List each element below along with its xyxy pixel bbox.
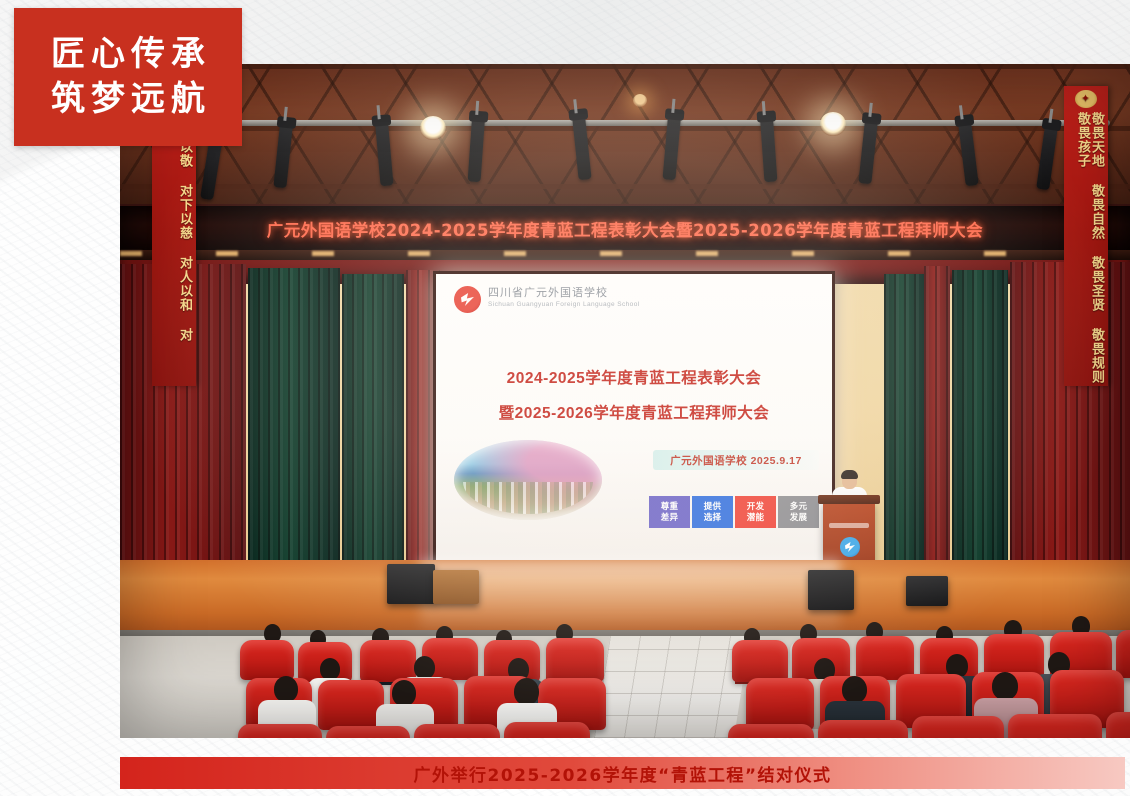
auditorium-seat xyxy=(746,678,814,730)
slide-chip-bottom: 潜能 xyxy=(747,512,765,523)
slide-date-label: 广元外国语学校 2025.9.17 xyxy=(670,453,802,468)
slide-date-box: 广元外国语学校 2025.9.17 xyxy=(653,450,819,470)
school-name-en: Sichuan Guangyuan Foreign Language Schoo… xyxy=(488,300,640,310)
pa-speaker xyxy=(387,564,435,604)
caption-bar: 广外举行2025-2026学年度“青蓝工程”结对仪式 xyxy=(120,757,1125,789)
column-banner-right-text: 敬畏天地 敬畏自然 敬畏圣贤 敬畏规则 敬畏孩子 xyxy=(1076,112,1105,384)
caption-text: 广外举行2025-2026学年度“青蓝工程”结对仪式 xyxy=(413,761,831,786)
pa-speaker xyxy=(808,570,854,610)
auditorium-seat xyxy=(414,724,500,738)
auditorium-seat xyxy=(240,640,294,680)
ceiling-lamp xyxy=(633,94,647,107)
slide-chip: 开发 潜能 xyxy=(735,496,776,528)
auditorium-seat xyxy=(318,680,384,730)
page-background: 广元外国语学校2024-2025学年度青蓝工程表彰大会暨2025-2026学年度… xyxy=(0,0,1130,796)
auditorium-seat xyxy=(546,638,604,682)
stage-curtain-green-right xyxy=(952,270,1008,592)
podium-logo-icon xyxy=(840,537,860,557)
slide-chip-bottom: 选择 xyxy=(704,512,722,523)
slide-chip-row: 尊重 差异 提供 选择 开发 潜能 多元 发展 xyxy=(649,496,819,528)
slide-chip-bottom: 发展 xyxy=(790,512,808,523)
auditorium-seat xyxy=(1008,714,1102,738)
led-banner-text: 广元外国语学校2024-2025学年度青蓝工程表彰大会暨2025-2026学年度… xyxy=(267,217,983,241)
slide-chip-bottom: 差异 xyxy=(661,512,679,523)
auditorium-seat xyxy=(360,640,416,682)
auditorium-seat xyxy=(1106,712,1130,738)
ceiling-lamp xyxy=(420,116,446,140)
column-banner-left-text: 对上以敬 对下以慈 对人以和 对 xyxy=(178,112,193,342)
slide-chip-top: 开发 xyxy=(747,501,765,512)
slide-title-line1: 2024-2025学年度青蓝工程表彰大会 xyxy=(436,366,832,388)
ceiling-truss xyxy=(120,64,1130,214)
equipment-box xyxy=(433,570,479,604)
column-banner-right: ✦ 敬畏天地 敬畏自然 敬畏圣贤 敬畏规则 敬畏孩子 xyxy=(1064,86,1108,386)
stage-footlights xyxy=(120,250,1130,260)
slogan-line-2: 筑梦远航 xyxy=(45,77,211,122)
aisle-floor xyxy=(594,636,750,738)
slide-chip-top: 提供 xyxy=(704,501,722,512)
stage-curtain-green-right xyxy=(884,274,924,592)
slide-chip: 尊重 差异 xyxy=(649,496,690,528)
school-logo-icon xyxy=(454,286,481,313)
auditorium-seat xyxy=(504,722,590,738)
stage-curtain-green-left xyxy=(342,274,404,594)
slogan-badge: 匠心传承 筑梦远航 xyxy=(14,8,242,146)
stage-curtain-green-left xyxy=(248,268,340,602)
event-photograph: 广元外国语学校2024-2025学年度青蓝工程表彰大会暨2025-2026学年度… xyxy=(120,64,1130,738)
projection-screen: 四川省广元外国语学校 Sichuan Guangyuan Foreign Lan… xyxy=(433,271,835,574)
slide-title-line2: 暨2025-2026学年度青蓝工程拜师大会 xyxy=(436,401,832,423)
stage-curtain-red-right xyxy=(924,266,950,594)
led-banner: 广元外国语学校2024-2025学年度青蓝工程表彰大会暨2025-2026学年度… xyxy=(120,204,1130,254)
slide-chip-top: 多元 xyxy=(790,501,808,512)
slide-chip: 提供 选择 xyxy=(692,496,733,528)
pa-speaker xyxy=(906,576,948,606)
slide-chip-top: 尊重 xyxy=(661,501,679,512)
auditorium-seat xyxy=(818,720,908,738)
auditorium-seat xyxy=(238,724,322,738)
auditorium-seat xyxy=(326,726,410,738)
school-name-cn: 四川省广元外国语学校 xyxy=(488,286,640,300)
school-logo: 四川省广元外国语学校 Sichuan Guangyuan Foreign Lan… xyxy=(454,286,640,313)
school-emblem-icon: ✦ xyxy=(1075,90,1097,108)
auditorium-seat xyxy=(732,640,788,682)
ceiling-lamp xyxy=(820,112,846,136)
auditorium-seat xyxy=(912,716,1004,738)
slogan-line-1: 匠心传承 xyxy=(45,32,211,77)
slide-chip: 多元 发展 xyxy=(778,496,819,528)
auditorium-seat xyxy=(728,724,814,738)
campus-photo-oval xyxy=(454,440,602,520)
